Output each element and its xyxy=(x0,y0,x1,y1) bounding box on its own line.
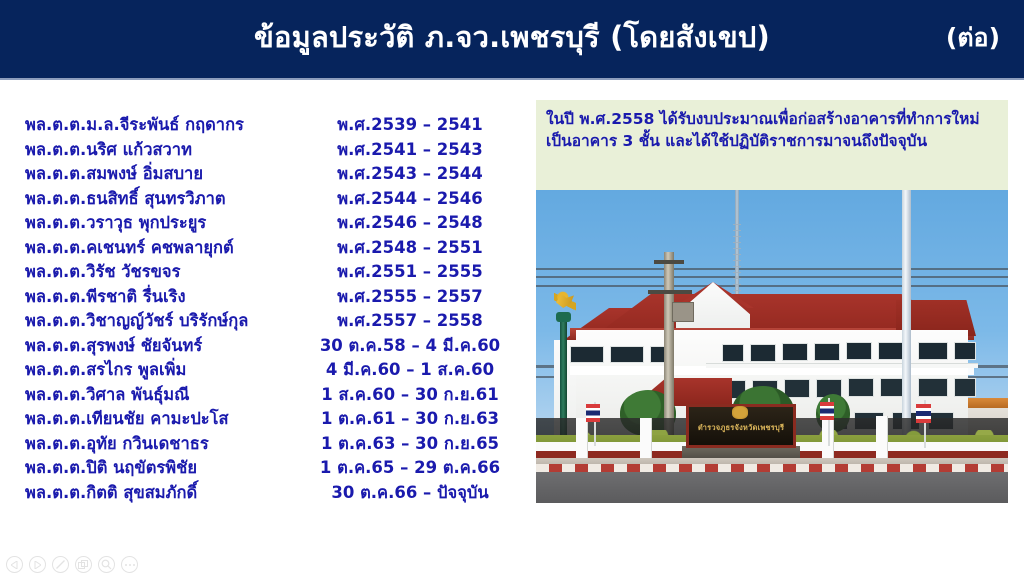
commander-name: พล.ต.ต.เทียนชัย คามะปะโส xyxy=(0,406,296,432)
roster-row: พล.ต.ต.ปิติ นฤขัตรพิชัย1 ต.ค.65 – 29 ต.ค… xyxy=(0,455,524,480)
commander-term: 1 ต.ค.61 – 30 ก.ย.63 xyxy=(296,406,524,432)
flag-pole-tall xyxy=(902,190,911,448)
roster-row: พล.ต.ต.สมพงษ์ อิ่มสบายพ.ศ.2543 – 2544 xyxy=(0,161,524,186)
slideshow-toolbar[interactable] xyxy=(6,556,138,573)
caption-box: ในปี พ.ศ.2558 ได้รับงบประมาณเพื่อก่อสร้า… xyxy=(536,100,1008,190)
commander-term: 4 มี.ค.60 – 1 ส.ค.60 xyxy=(296,357,524,383)
roster-row: พล.ต.ต.วราวุธ พุกประยูรพ.ศ.2546 – 2548 xyxy=(0,210,524,235)
commander-term: 1 ต.ค.65 – 29 ต.ค.66 xyxy=(296,455,524,481)
station-sign-text: ตำรวจภูธรจังหวัดเพชรบุรี xyxy=(686,422,796,434)
roster-row: พล.ต.ต.พีรชาติ รื่นเริงพ.ศ.2555 – 2557 xyxy=(0,284,524,309)
commander-name: พล.ต.ต.ธนสิทธิ์ สุนทรวิภาต xyxy=(0,186,296,212)
roster-row: พล.ต.ต.อุทัย กวินเดชาธร1 ต.ค.63 – 30 ก.ย… xyxy=(0,431,524,456)
commander-name: พล.ต.ต.วิรัช วัชรขจร xyxy=(0,259,296,285)
commander-term: พ.ศ.2546 – 2548 xyxy=(296,210,524,236)
next-slide-icon[interactable] xyxy=(29,556,46,573)
road xyxy=(536,472,1008,503)
commander-name: พล.ต.ต.สมพงษ์ อิ่มสบาย xyxy=(0,161,296,187)
all-slides-icon[interactable] xyxy=(75,556,92,573)
commander-name: พล.ต.ต.นริศ แก้วสวาท xyxy=(0,137,296,163)
commander-name: พล.ต.ต.สรไกร พูลเพิ่ม xyxy=(0,357,296,383)
police-station-photo: ตำรวจภูธรจังหวัดเพชรบุรี xyxy=(536,190,1008,503)
commander-term: พ.ศ.2551 – 2555 xyxy=(296,259,524,285)
commander-term: 30 ต.ค.66 – ปัจจุบัน xyxy=(296,480,524,506)
commander-term: พ.ศ.2544 – 2546 xyxy=(296,186,524,212)
commander-name: พล.ต.ต.วิศาล พันธุ์มณี xyxy=(0,382,296,408)
previous-slide-icon[interactable] xyxy=(6,556,23,573)
commander-term: พ.ศ.2543 – 2544 xyxy=(296,161,524,187)
thai-flag-left xyxy=(586,404,600,422)
roster-row: พล.ต.ต.นริศ แก้วสวาทพ.ศ.2541 – 2543 xyxy=(0,137,524,162)
pen-tool-icon[interactable] xyxy=(52,556,69,573)
thai-flag-right xyxy=(916,404,931,423)
commander-term: 1 ต.ค.63 – 30 ก.ย.65 xyxy=(296,431,524,457)
commander-term: 30 ต.ค.58 – 4 มี.ค.60 xyxy=(296,333,524,359)
roster-row: พล.ต.ต.สรไกร พูลเพิ่ม4 มี.ค.60 – 1 ส.ค.6… xyxy=(0,357,524,382)
roster-row: พล.ต.ต.ธนสิทธิ์ สุนทรวิภาตพ.ศ.2544 – 254… xyxy=(0,186,524,211)
commander-term: พ.ศ.2541 – 2543 xyxy=(296,137,524,163)
commander-term: พ.ศ.2557 – 2558 xyxy=(296,308,524,334)
commander-name: พล.ต.ต.ม.ล.จีระพันธ์ กฤดากร xyxy=(0,112,296,138)
commander-name: พล.ต.ต.อุทัย กวินเดชาธร xyxy=(0,431,296,457)
roster-row: พล.ต.ต.วิรัช วัชรขจรพ.ศ.2551 – 2555 xyxy=(0,259,524,284)
roster-row: พล.ต.ต.สุรพงษ์ ชัยจันทร์30 ต.ค.58 – 4 มี… xyxy=(0,333,524,358)
commander-name: พล.ต.ต.คเชนทร์ คชพลายุกต์ xyxy=(0,235,296,261)
roster-row: พล.ต.ต.คเชนทร์ คชพลายุกต์พ.ศ.2548 – 2551 xyxy=(0,235,524,260)
commander-term: 1 ส.ค.60 – 30 ก.ย.61 xyxy=(296,382,524,408)
commander-name: พล.ต.ต.พีรชาติ รื่นเริง xyxy=(0,284,296,310)
commander-name: พล.ต.ต.สุรพงษ์ ชัยจันทร์ xyxy=(0,333,296,359)
royal-emblem-icon xyxy=(732,406,748,419)
roster-row: พล.ต.ต.เทียนชัย คามะปะโส1 ต.ค.61 – 30 ก.… xyxy=(0,406,524,431)
thai-flag-mid xyxy=(820,402,834,420)
commander-name: พล.ต.ต.วิชาญญ์วัชร์ บริรักษ์กุล xyxy=(0,308,296,334)
page-title: ข้อมูลประวัติ ภ.จว.เพชรบุรี (โดยสังเขป) xyxy=(0,0,1024,78)
commander-name: พล.ต.ต.กิตติ สุขสมภักดิ์ xyxy=(0,480,296,506)
commander-term: พ.ศ.2539 – 2541 xyxy=(296,112,524,138)
continued-label: (ต่อ) xyxy=(946,0,1000,78)
curb-stripe xyxy=(536,464,1008,472)
roster-row: พล.ต.ต.วิศาล พันธุ์มณี1 ส.ค.60 – 30 ก.ย.… xyxy=(0,382,524,407)
commander-name: พล.ต.ต.ปิติ นฤขัตรพิชัย xyxy=(0,455,296,481)
commander-name: พล.ต.ต.วราวุธ พุกประยูร xyxy=(0,210,296,236)
zoom-tool-icon[interactable] xyxy=(98,556,115,573)
roster-row: พล.ต.ต.ม.ล.จีระพันธ์ กฤดากรพ.ศ.2539 – 25… xyxy=(0,112,524,137)
commander-roster: พล.ต.ต.ม.ล.จีระพันธ์ กฤดากรพ.ศ.2539 – 25… xyxy=(0,112,524,504)
header-banner: ข้อมูลประวัติ ภ.จว.เพชรบุรี (โดยสังเขป) … xyxy=(0,0,1024,80)
commander-term: พ.ศ.2548 – 2551 xyxy=(296,235,524,261)
roster-row: พล.ต.ต.วิชาญญ์วัชร์ บริรักษ์กุลพ.ศ.2557 … xyxy=(0,308,524,333)
more-options-icon[interactable] xyxy=(121,556,138,573)
commander-term: พ.ศ.2555 – 2557 xyxy=(296,284,524,310)
roster-row: พล.ต.ต.กิตติ สุขสมภักดิ์30 ต.ค.66 – ปัจจ… xyxy=(0,480,524,505)
